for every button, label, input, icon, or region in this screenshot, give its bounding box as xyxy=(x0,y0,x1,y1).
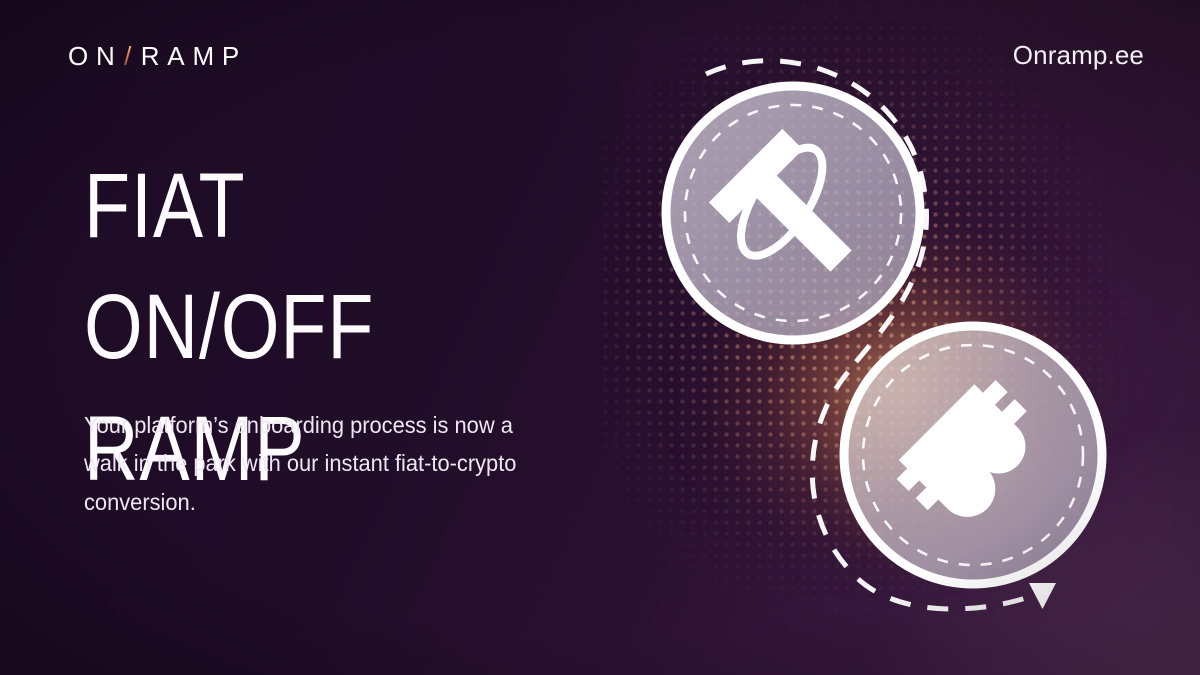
headline-line-1: FIAT xyxy=(84,155,245,257)
logo-text-on: ON xyxy=(68,41,123,72)
logo-text-ramp: RAMP xyxy=(141,41,247,72)
logo-slash-icon: / xyxy=(123,41,141,72)
bitcoin-coin xyxy=(844,326,1102,584)
brand-logo[interactable]: ON / RAMP xyxy=(68,41,247,72)
hero-description: Your platform’s onboarding process is no… xyxy=(84,406,542,521)
site-url-label[interactable]: Onramp.ee xyxy=(1013,40,1144,71)
tether-coin xyxy=(666,86,920,340)
flow-arrowhead xyxy=(1029,583,1056,609)
promo-banner: ON / RAMP Onramp.ee FIAT ON/OFF RAMP You… xyxy=(0,0,1200,675)
